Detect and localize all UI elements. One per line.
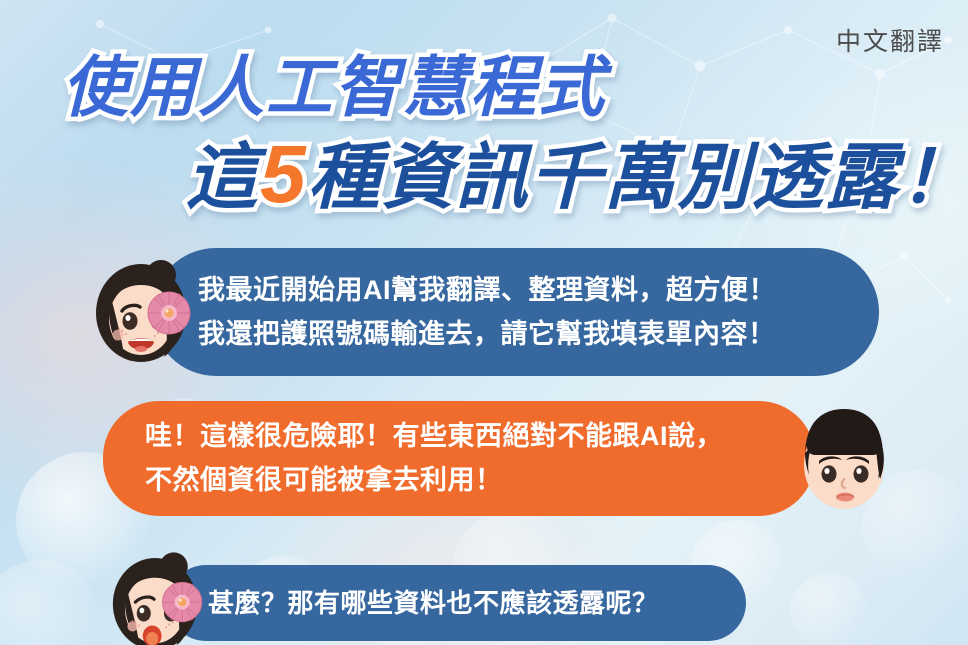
page-title: 使用人工智慧程式 這5種資訊千萬別透露！ [0,34,968,224]
headline-line-2-prefix: 這 [186,138,260,218]
chat-row: 甚麼？那有哪些資料也不應該透露呢？ [96,544,746,645]
bubble-text-line: 不然個資很可能被拿去利用！ [145,458,769,502]
chat-bubble-blue: 甚麼？那有哪些資料也不應該透露呢？ [168,565,746,641]
bubble-text-line: 我還把護照號碼輸進去，請它幫我填表單內容！ [198,312,839,356]
man-serious-avatar-clipped [793,640,919,645]
chat-bubble-orange: 哇！這樣很危險耶！有些東西絕對不能跟AI說， 不然個資很可能被拿去利用！ [103,401,815,516]
chat-bubble-blue: 我最近開始用AI幫我翻譯、整理資料，超方便！ 我還把護照號碼輸進去，請它幫我填表… [152,248,879,376]
woman-surprised-avatar [96,544,214,645]
conversation-area: 我最近開始用AI幫我翻譯、整理資料，超方便！ 我還把護照號碼輸進去，請它幫我填表… [0,236,968,645]
infographic-poster: 中文翻譯 使用人工智慧程式 這5種資訊千萬別透露！ [0,0,968,645]
flower-hair-accessory [148,292,190,334]
headline-number-five: 5 [260,129,308,220]
bubble-text-line: 甚麼？那有哪些資料也不應該透露呢？ [208,586,710,620]
flower-hair-accessory [162,582,201,621]
headline-line-2-suffix: 種資訊千萬別透露！ [308,138,968,218]
headline-line-1: 使用人工智慧程式 [62,34,606,130]
chat-row-clipped [123,640,919,645]
bubble-text-line: 我最近開始用AI幫我翻譯、整理資料，超方便！ [198,268,839,312]
woman-smiling-avatar [78,249,204,375]
bubble-text-line: 哇！這樣很危險耶！有些東西絕對不能跟AI說， [145,414,769,458]
chat-row: 我最近開始用AI幫我翻譯、整理資料，超方便！ 我還把護照號碼輸進去，請它幫我填表… [78,248,879,376]
man-serious-avatar [781,395,907,521]
headline-line-2: 這5種資訊千萬別透露！ [186,118,968,223]
chat-row: 哇！這樣很危險耶！有些東西絕對不能跟AI說， 不然個資很可能被拿去利用！ [103,395,907,521]
